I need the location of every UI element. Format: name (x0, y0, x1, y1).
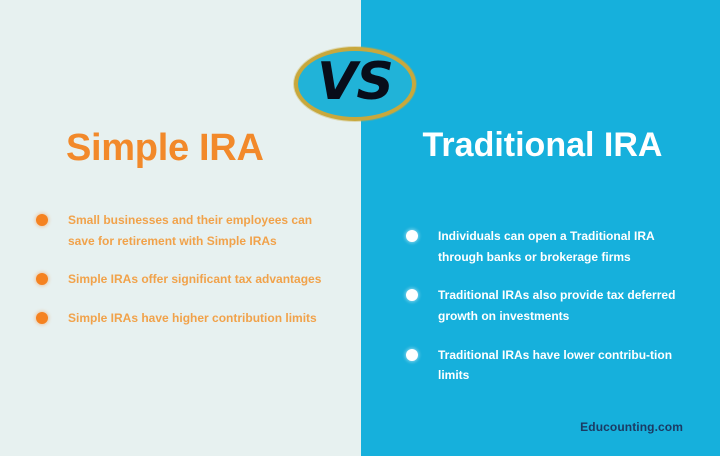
list-item: Individuals can open a Traditional IRA t… (406, 226, 696, 267)
right-panel-heading: Traditional IRA (400, 124, 685, 167)
right-panel-bullet-list: Individuals can open a Traditional IRA t… (406, 226, 696, 404)
list-item: Small businesses and their employees can… (36, 210, 331, 251)
list-item-label: Traditional IRAs also provide tax deferr… (438, 285, 696, 326)
vs-badge-icon: VS (294, 47, 416, 121)
list-item-label: Simple IRAs have higher contribution lim… (68, 308, 331, 329)
bullet-dot-icon (406, 230, 418, 242)
list-item: Traditional IRAs have lower contribu-tio… (406, 345, 696, 386)
left-panel-heading: Simple IRA (66, 127, 346, 171)
comparison-infographic: VS Simple IRA Traditional IRA Small busi… (0, 0, 720, 456)
bullet-dot-icon (36, 214, 48, 226)
footer-brand-label: Educounting.com (580, 420, 683, 434)
list-item-label: Traditional IRAs have lower contribu-tio… (438, 345, 696, 386)
bullet-dot-icon (406, 289, 418, 301)
list-item: Traditional IRAs also provide tax deferr… (406, 285, 696, 326)
bullet-dot-icon (406, 349, 418, 361)
list-item: Simple IRAs have higher contribution lim… (36, 308, 331, 329)
bullet-dot-icon (36, 312, 48, 324)
list-item: Simple IRAs offer significant tax advant… (36, 269, 331, 290)
list-item-label: Individuals can open a Traditional IRA t… (438, 226, 696, 267)
bullet-dot-icon (36, 273, 48, 285)
vs-badge-label: VS (317, 56, 393, 108)
list-item-label: Simple IRAs offer significant tax advant… (68, 269, 331, 290)
left-panel-bullet-list: Small businesses and their employees can… (36, 210, 331, 347)
list-item-label: Small businesses and their employees can… (68, 210, 331, 251)
